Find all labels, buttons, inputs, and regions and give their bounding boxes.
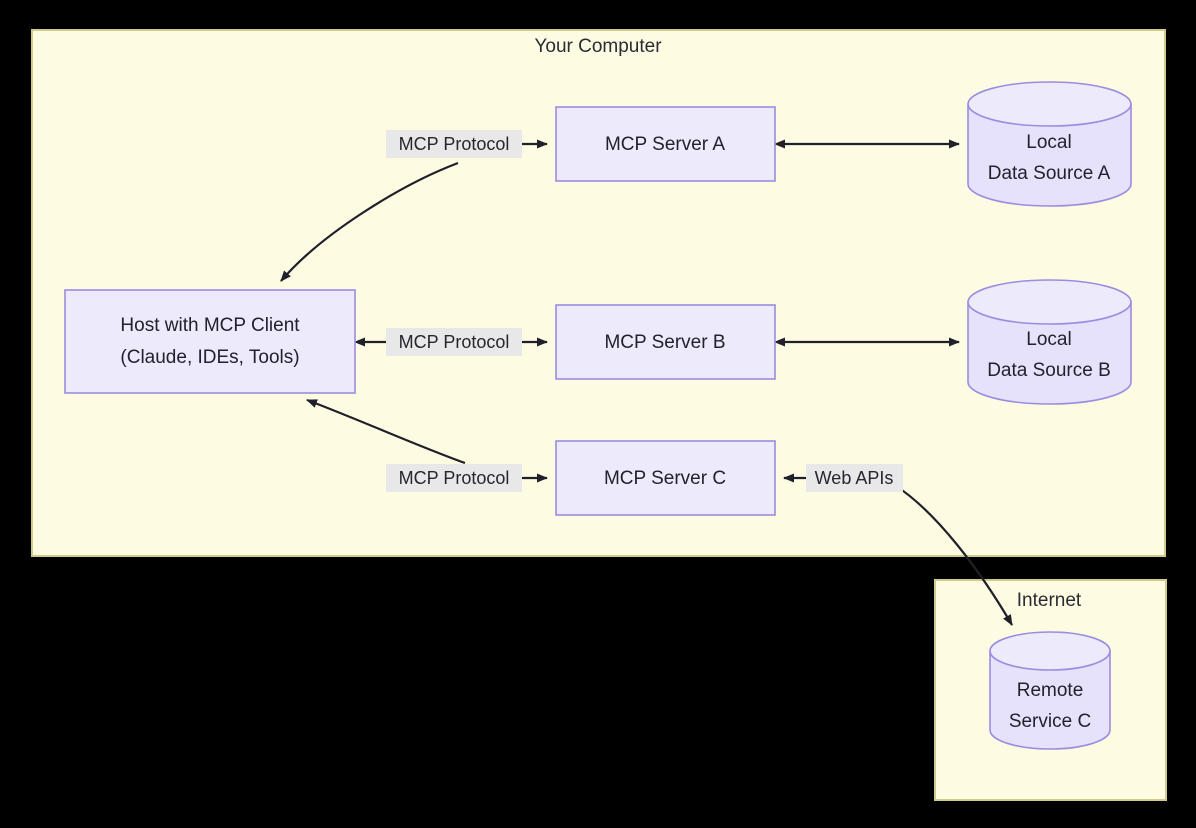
node-remote-c-label-line2: Service C bbox=[1009, 711, 1091, 732]
node-server-b-label: MCP Server B bbox=[604, 332, 725, 353]
node-host-label-line2: (Claude, IDEs, Tools) bbox=[120, 347, 299, 368]
node-source-a-label-line1: Local bbox=[1026, 132, 1071, 153]
node-source-b-label-line2: Data Source B bbox=[987, 360, 1111, 381]
node-remote-c-top bbox=[990, 632, 1110, 670]
node-host[interactable]: Host with MCP Client (Claude, IDEs, Tool… bbox=[65, 290, 355, 393]
node-host-label-line1: Host with MCP Client bbox=[120, 315, 300, 336]
edge-server-c-remote-c-label: Web APIs bbox=[815, 468, 894, 488]
node-source-b-label-line1: Local bbox=[1026, 329, 1071, 350]
node-remote-c-label-line1: Remote bbox=[1017, 680, 1084, 701]
node-source-a-label-line2: Data Source A bbox=[988, 163, 1111, 184]
edge-host-server-c-label: MCP Protocol bbox=[399, 468, 510, 488]
node-source-b-top bbox=[968, 280, 1131, 324]
edge-host-server-a-label: MCP Protocol bbox=[399, 134, 510, 154]
node-server-c-label: MCP Server C bbox=[604, 468, 726, 489]
node-server-a-label: MCP Server A bbox=[605, 134, 725, 155]
node-host-box[interactable] bbox=[65, 290, 355, 393]
diagram-canvas: Your Computer Internet MCP Protocol MCP … bbox=[0, 0, 1196, 828]
edge-host-server-b-label: MCP Protocol bbox=[399, 332, 510, 352]
node-source-b[interactable]: Local Data Source B bbox=[968, 280, 1131, 404]
internet-label: Internet bbox=[1017, 590, 1082, 611]
node-server-b[interactable]: MCP Server B bbox=[556, 305, 775, 379]
your-computer-label: Your Computer bbox=[534, 36, 662, 57]
node-server-a[interactable]: MCP Server A bbox=[556, 107, 775, 181]
node-source-a-top bbox=[968, 82, 1131, 126]
edge-host-server-b: MCP Protocol bbox=[364, 328, 547, 356]
node-source-a[interactable]: Local Data Source A bbox=[968, 82, 1131, 206]
node-remote-c[interactable]: Remote Service C bbox=[990, 632, 1110, 749]
node-server-c[interactable]: MCP Server C bbox=[556, 441, 775, 515]
